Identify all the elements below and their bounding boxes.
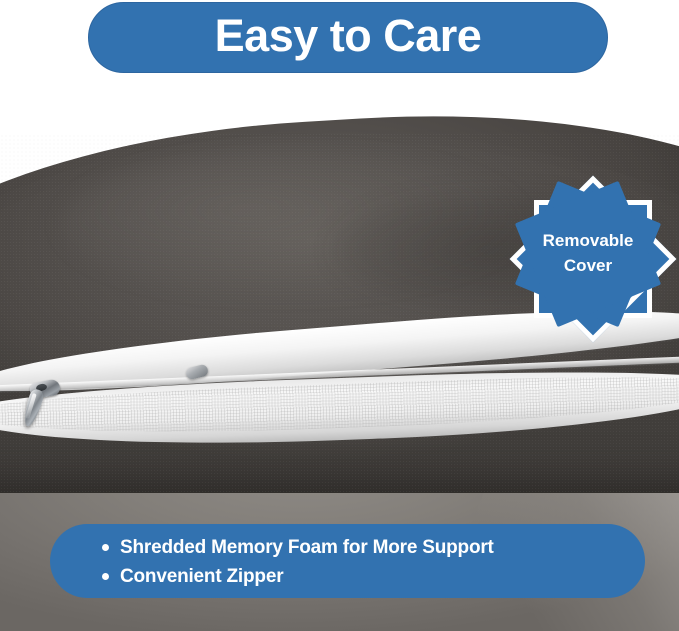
feature-bullet-item: Convenient Zipper	[102, 563, 645, 590]
bullet-dot-icon	[102, 573, 109, 580]
feature-bullet-label: Convenient Zipper	[120, 566, 283, 588]
badge-label-line1: Removable	[543, 229, 634, 254]
feature-banner: Shredded Memory Foam for More Support Co…	[50, 524, 645, 598]
feature-bullet-label: Shredded Memory Foam for More Support	[120, 537, 494, 559]
badge-label: Removable Cover	[500, 178, 676, 330]
badge-label-line2: Cover	[564, 254, 612, 279]
page-title: Easy to Care	[215, 13, 482, 62]
feature-bullet-item: Shredded Memory Foam for More Support	[102, 534, 645, 561]
bullet-dot-icon	[102, 544, 109, 551]
removable-cover-badge: Removable Cover	[500, 178, 676, 330]
header-banner: Easy to Care	[88, 2, 608, 73]
product-image-stage: Easy to Care Removable Cover Shredded Me…	[0, 0, 679, 631]
